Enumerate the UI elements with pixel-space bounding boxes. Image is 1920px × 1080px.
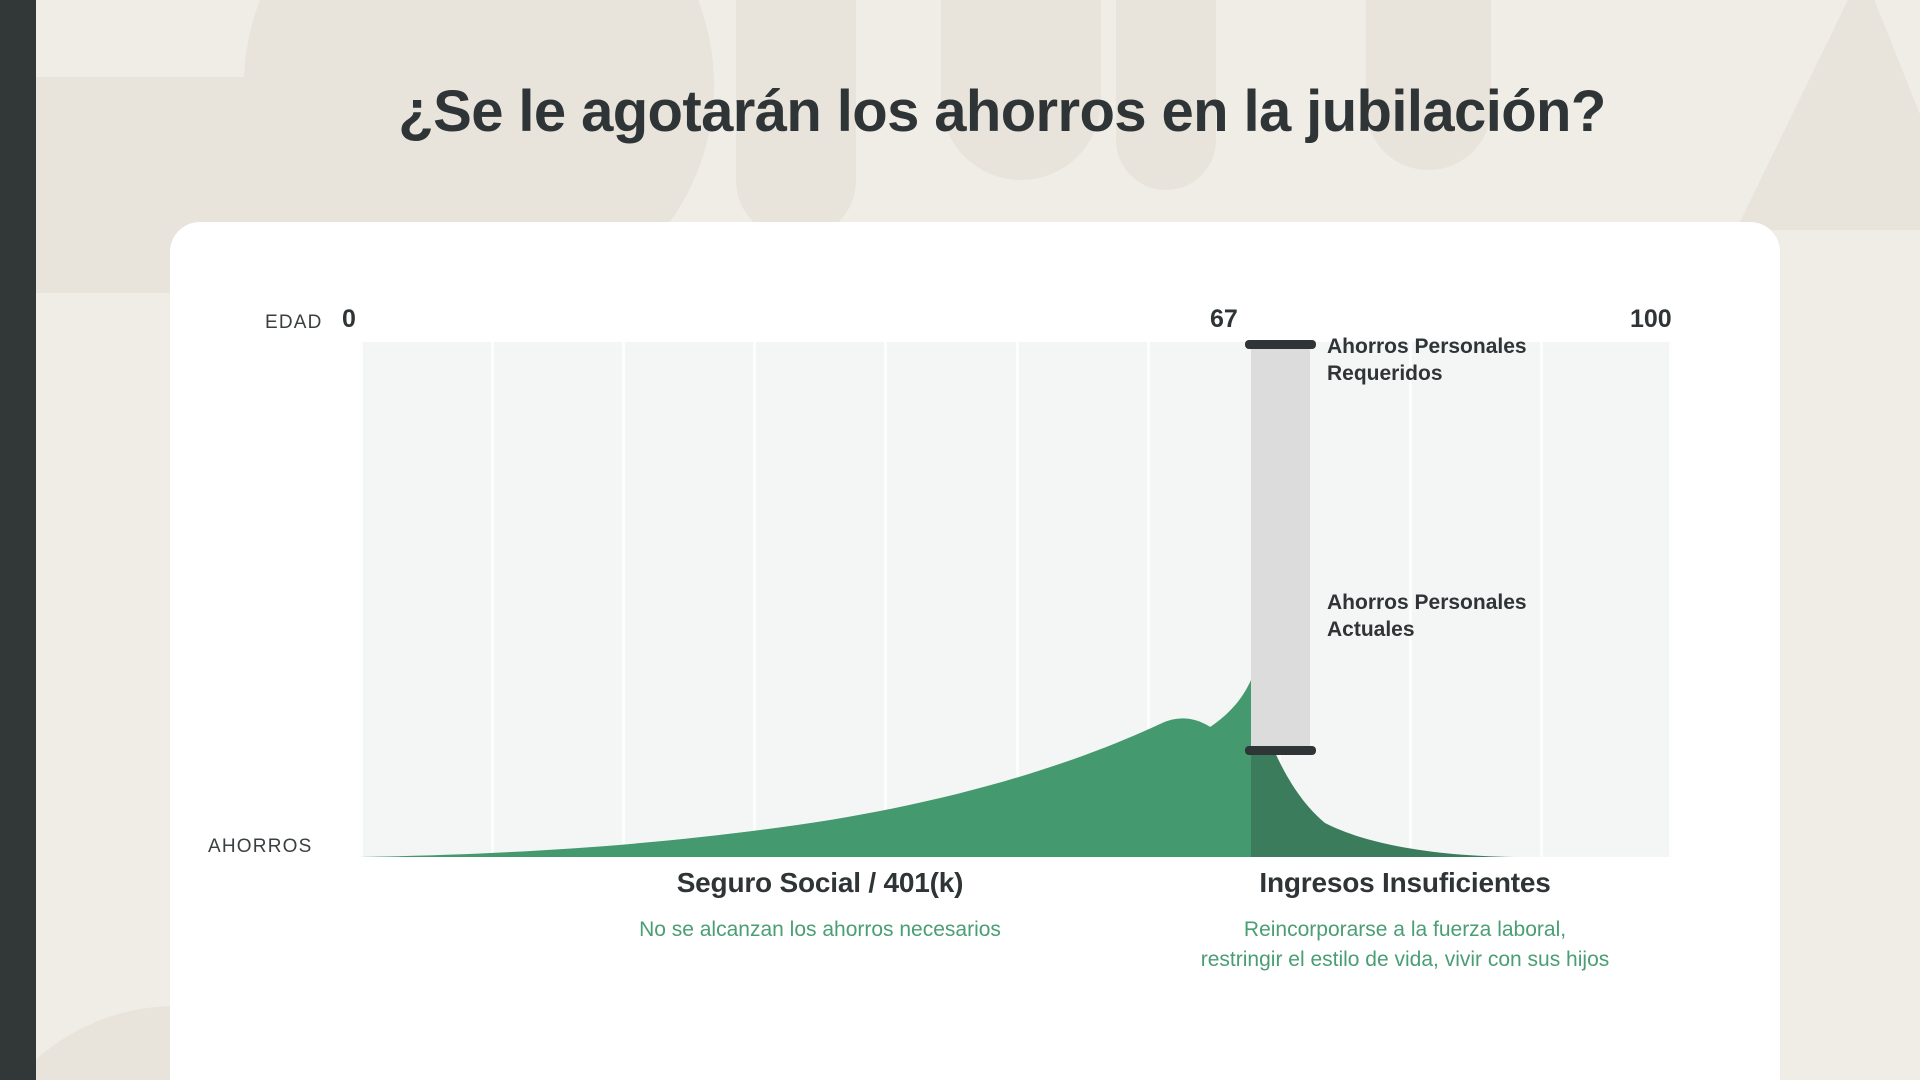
x-axis-label: EDAD [265, 312, 323, 334]
callout-current-savings: Ahorros Personales Actuales [1327, 590, 1527, 643]
caption-right-subtext-line2: restringir el estilo de vida, vivir con … [1040, 945, 1770, 975]
current-savings-cap-icon [1245, 746, 1316, 755]
left-accent-rail [0, 0, 36, 1080]
x-tick-age-0: 0 [342, 305, 356, 334]
caption-right: Ingresos Insuficientes Reincorporarse a … [1040, 867, 1770, 975]
y-axis-label: AHORROS [208, 836, 312, 858]
decor-quarter-circle-b [36, 1006, 176, 1080]
callout-required-line1: Ahorros Personales [1327, 334, 1527, 361]
callout-current-line2: Actuales [1327, 617, 1527, 644]
callout-current-line1: Ahorros Personales [1327, 590, 1527, 617]
required-savings-cap-icon [1245, 340, 1316, 349]
x-tick-age-67: 67 [1210, 305, 1238, 334]
caption-right-subtext-line1: Reincorporarse a la fuerza laboral, [1040, 915, 1770, 945]
x-tick-age-100: 100 [1630, 305, 1672, 334]
caption-right-subtext: Reincorporarse a la fuerza laboral, rest… [1040, 915, 1770, 975]
page-title: ¿Se le agotarán los ahorros en la jubila… [182, 78, 1822, 145]
callout-required-line2: Requeridos [1327, 361, 1527, 388]
caption-right-heading: Ingresos Insuficientes [1040, 867, 1770, 899]
chart-card: EDAD AHORROS 0 67 100 [170, 222, 1780, 1080]
retirement-savings-chart: EDAD AHORROS 0 67 100 [170, 222, 1780, 1080]
callout-required-savings: Ahorros Personales Requeridos [1327, 334, 1527, 387]
required-savings-bar [1251, 346, 1310, 752]
